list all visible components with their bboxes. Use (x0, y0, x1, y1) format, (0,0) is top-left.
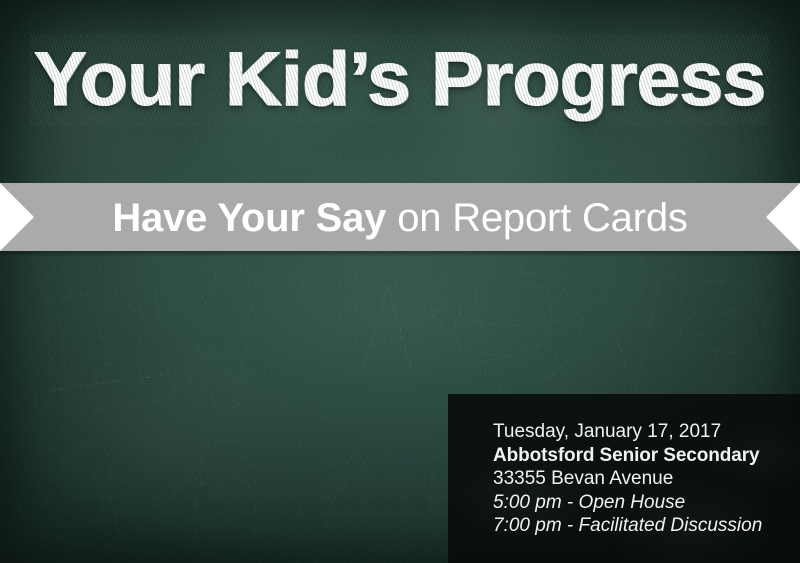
event-time-discussion: 7:00 pm - Facilitated Discussion (493, 514, 790, 538)
event-info-panel: Tuesday, January 17, 2017 Abbotsford Sen… (448, 394, 800, 563)
event-venue: Abbotsford Senior Secondary (493, 444, 790, 468)
ribbon-bottom-shadow (0, 251, 800, 257)
poster-headline-text: Your Kid’s Progress (34, 40, 765, 120)
ribbon-strong-text: Have Your Say (112, 196, 386, 240)
ribbon-light-text: on Report Cards (397, 196, 687, 240)
poster-canvas: Your Kid’s Progress Have Your Say on Rep… (0, 0, 800, 563)
event-address: 33355 Bevan Avenue (493, 467, 790, 491)
ribbon-banner-text: Have Your Say on Report Cards (0, 184, 800, 252)
event-time-open-house: 5:00 pm - Open House (493, 491, 790, 515)
poster-headline: Your Kid’s Progress (0, 40, 800, 120)
event-date: Tuesday, January 17, 2017 (493, 420, 790, 444)
event-info-lines: Tuesday, January 17, 2017 Abbotsford Sen… (493, 420, 790, 538)
ribbon-banner: Have Your Say on Report Cards (0, 183, 800, 251)
